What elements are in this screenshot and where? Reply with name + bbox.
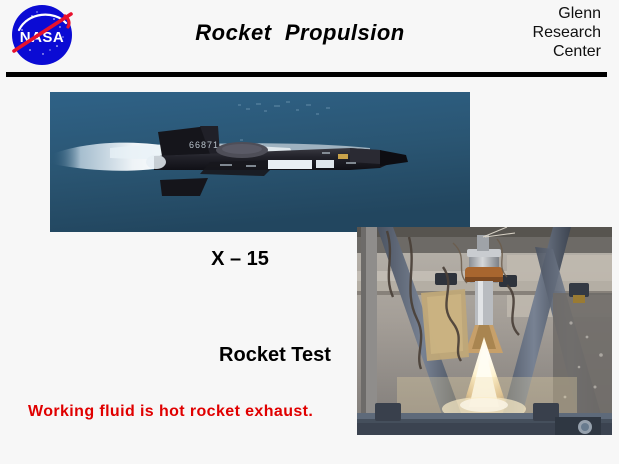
page-title: Rocket Propulsion	[120, 20, 480, 46]
nasa-logo-icon: NASA	[10, 3, 74, 67]
center-name-line-2: Research	[533, 23, 601, 42]
note-working-fluid: Working fluid is hot rocket exhaust.	[28, 403, 313, 421]
svg-text:66871: 66871	[189, 140, 219, 150]
slide-canvas: NASA Rocket Propulsion Glenn Research Ce…	[0, 0, 619, 464]
center-name: Glenn Research Center	[533, 4, 601, 61]
rocket-test-photo	[357, 227, 612, 435]
caption-x15: X – 15	[140, 248, 340, 271]
caption-rocket-test: Rocket Test	[185, 344, 365, 367]
x15-photo: 66871	[50, 92, 470, 232]
center-name-line-1: Glenn	[533, 4, 601, 23]
center-name-line-3: Center	[533, 42, 601, 61]
header-divider	[6, 72, 607, 77]
